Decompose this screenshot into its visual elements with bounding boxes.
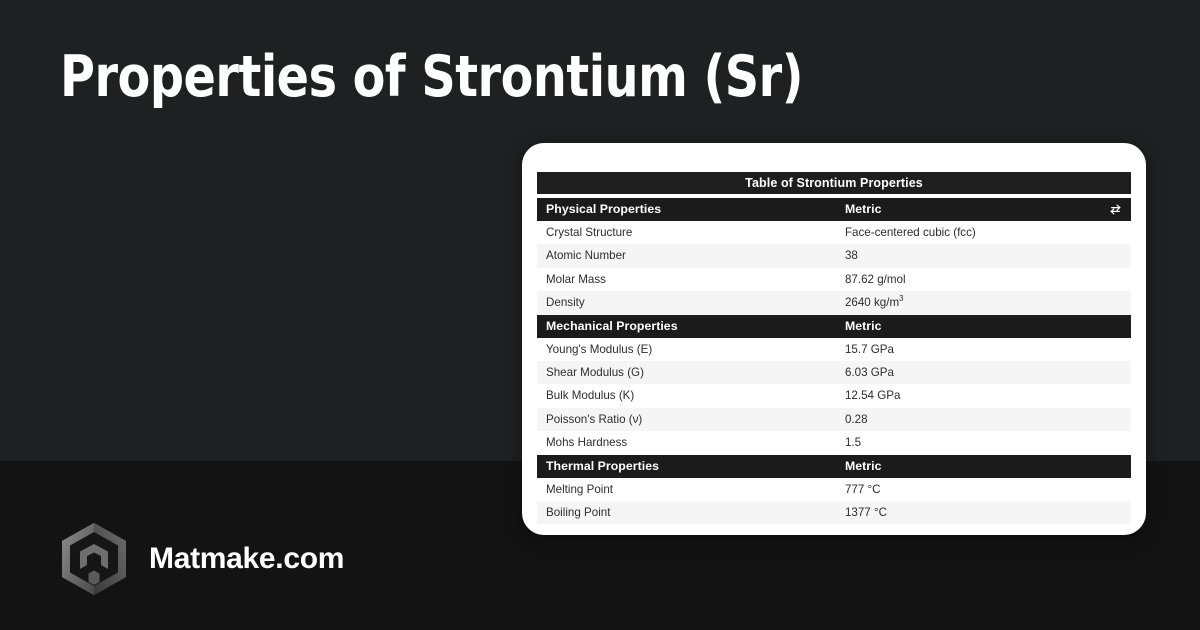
table-row: Mohs Hardness1.5 — [537, 431, 1131, 454]
section-header-action[interactable] — [1104, 455, 1131, 478]
property-value: 38 — [837, 244, 1131, 267]
table-title-row: Table of Strontium Properties — [537, 172, 1131, 194]
brand-lockup: Matmake.com — [58, 521, 344, 597]
property-value: Face-centered cubic (fcc) — [837, 221, 1131, 244]
property-name: Boiling Point — [537, 501, 837, 524]
table-row: Density2640 kg/m3 — [537, 291, 1131, 314]
brand-name: Matmake.com — [149, 542, 344, 576]
section-header-action[interactable] — [1104, 198, 1131, 221]
property-name: Mohs Hardness — [537, 431, 837, 454]
poster-root: Properties of Strontium (Sr) — [0, 0, 1200, 630]
property-value: 87.62 g/mol — [837, 268, 1131, 291]
matmake-cube-logo-icon — [58, 521, 130, 597]
property-value: 1377 °C — [837, 501, 1131, 524]
section-header-row: Mechanical PropertiesMetric — [537, 315, 1131, 338]
section-header-metric: Metric — [837, 198, 1104, 221]
property-name: Shear Modulus (G) — [537, 361, 837, 384]
table-row: Shear Modulus (G)6.03 GPa — [537, 361, 1131, 384]
section-header-metric: Metric — [837, 315, 1104, 338]
table-row: Poisson's Ratio (ν)0.28 — [537, 408, 1131, 431]
property-value: 2640 kg/m3 — [837, 291, 1131, 314]
property-value: 15.7 GPa — [837, 338, 1131, 361]
table-row: Bulk Modulus (K)12.54 GPa — [537, 384, 1131, 407]
table-title: Table of Strontium Properties — [537, 172, 1131, 194]
property-value: 0.28 — [837, 408, 1131, 431]
property-value: 6.03 GPa — [837, 361, 1131, 384]
property-name: Atomic Number — [537, 244, 837, 267]
property-name: Molar Mass — [537, 268, 837, 291]
page-title: Properties of Strontium (Sr) — [60, 40, 803, 114]
properties-card: Table of Strontium PropertiesPhysical Pr… — [522, 143, 1146, 535]
table-row: Boiling Point1377 °C — [537, 501, 1131, 524]
property-name: Melting Point — [537, 478, 837, 501]
section-header-property: Thermal Properties — [537, 455, 837, 478]
swap-units-icon[interactable] — [1109, 203, 1122, 216]
property-name: Crystal Structure — [537, 221, 837, 244]
section-header-property: Physical Properties — [537, 198, 837, 221]
properties-table: Table of Strontium PropertiesPhysical Pr… — [537, 172, 1131, 524]
section-header-metric: Metric — [837, 455, 1104, 478]
property-value: 777 °C — [837, 478, 1131, 501]
properties-table-body: Table of Strontium PropertiesPhysical Pr… — [537, 172, 1131, 524]
property-name: Density — [537, 291, 837, 314]
section-header-row: Thermal PropertiesMetric — [537, 455, 1131, 478]
property-name: Poisson's Ratio (ν) — [537, 408, 837, 431]
property-value: 12.54 GPa — [837, 384, 1131, 407]
table-row: Atomic Number38 — [537, 244, 1131, 267]
table-row: Young's Modulus (E)15.7 GPa — [537, 338, 1131, 361]
section-header-row: Physical PropertiesMetric — [537, 198, 1131, 221]
table-row: Melting Point777 °C — [537, 478, 1131, 501]
property-name: Bulk Modulus (K) — [537, 384, 837, 407]
section-header-property: Mechanical Properties — [537, 315, 837, 338]
table-row: Crystal StructureFace-centered cubic (fc… — [537, 221, 1131, 244]
property-name: Young's Modulus (E) — [537, 338, 837, 361]
property-value: 1.5 — [837, 431, 1131, 454]
table-row: Molar Mass87.62 g/mol — [537, 268, 1131, 291]
section-header-action[interactable] — [1104, 315, 1131, 338]
